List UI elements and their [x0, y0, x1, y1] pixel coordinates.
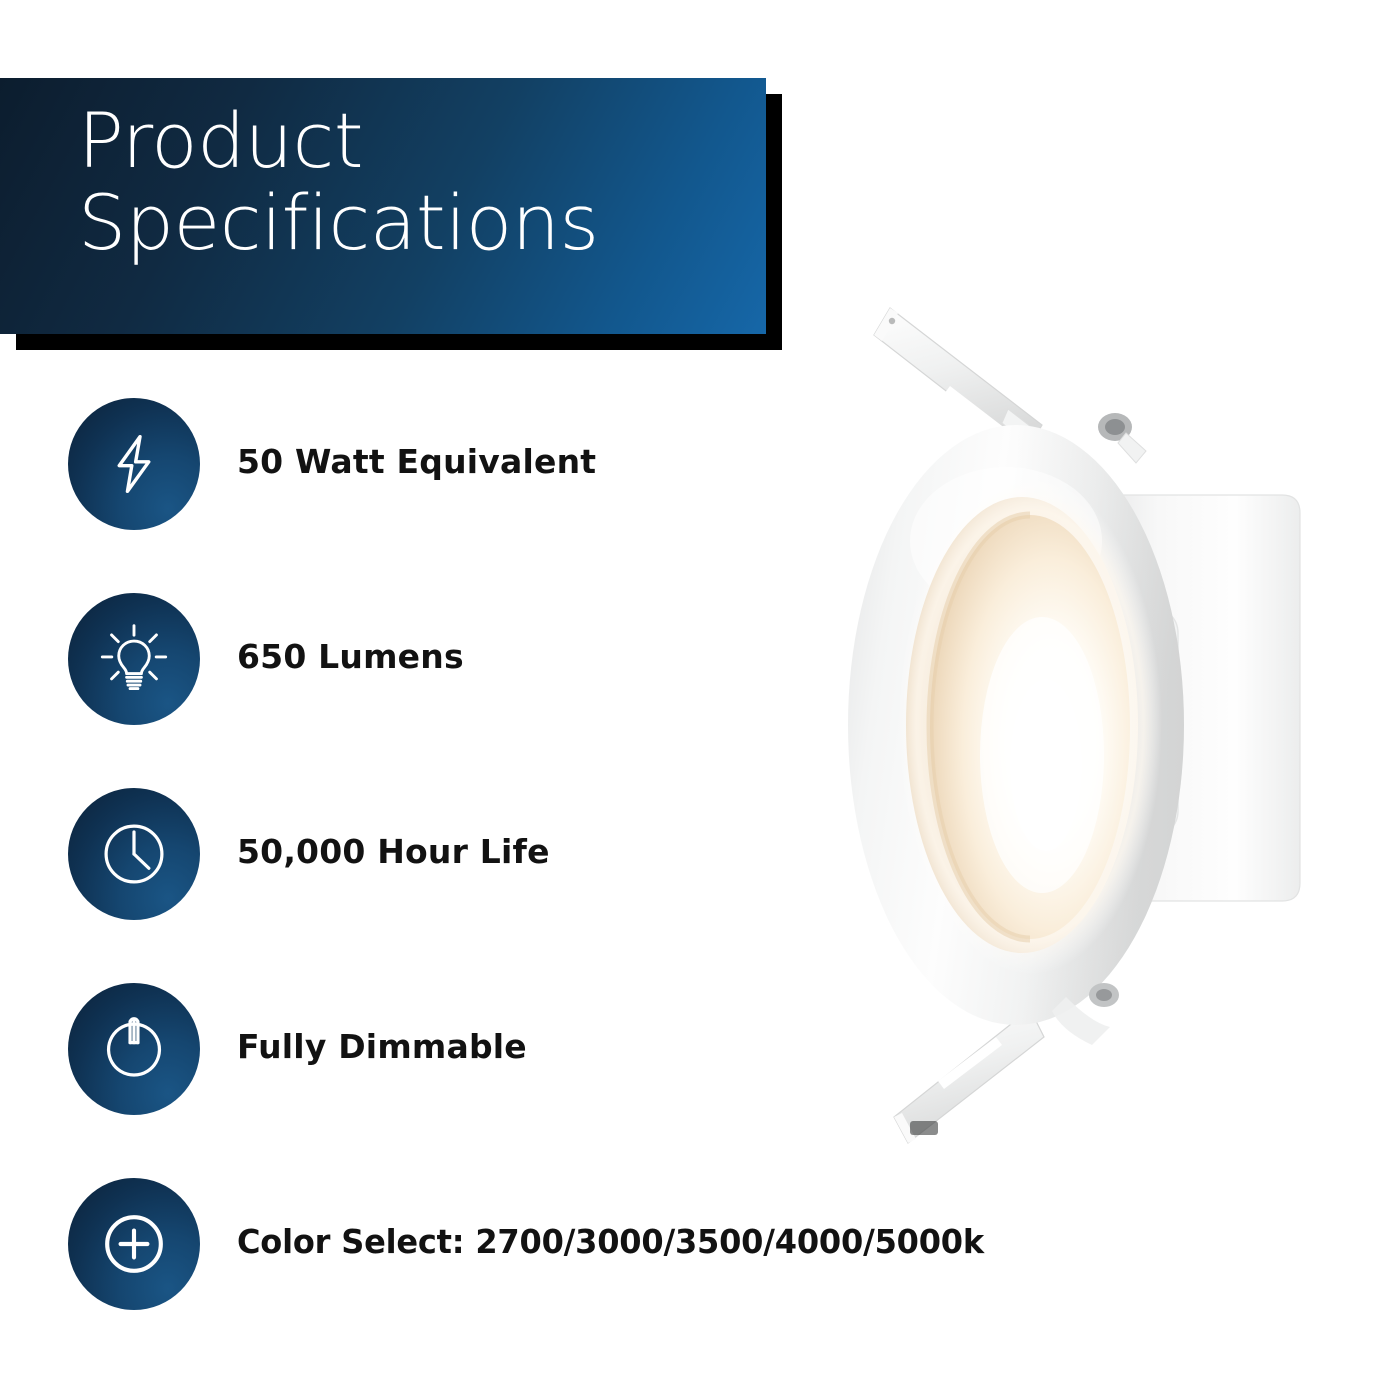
spec-label: Color Select: 2700/3000/3500/4000/5000k: [237, 1222, 984, 1261]
spring-clip-bottom: [894, 1009, 1044, 1143]
spec-icon-circle: [68, 593, 200, 725]
lightning-bolt-icon: [99, 429, 169, 499]
spec-label: 50,000 Hour Life: [237, 832, 550, 871]
spec-label: Fully Dimmable: [237, 1027, 527, 1066]
spec-row: Color Select: 2700/3000/3500/4000/5000k: [0, 1178, 1100, 1373]
page-title: Product Specifications: [78, 100, 738, 264]
spec-icon-circle: [68, 398, 200, 530]
plus-circle-icon: [95, 1205, 173, 1283]
spec-icon-circle: [68, 788, 200, 920]
product-specifications-page: Product Specifications 50 Watt Equivalen…: [0, 0, 1400, 1400]
power-icon: [97, 1012, 171, 1086]
clock-icon: [96, 816, 172, 892]
spec-label: 650 Lumens: [237, 637, 464, 676]
product-image: [830, 255, 1360, 1185]
downlight-trim: [848, 425, 1184, 1025]
light-bulb-icon: [97, 622, 171, 696]
spec-label: 50 Watt Equivalent: [237, 442, 596, 481]
header-banner: Product Specifications: [0, 78, 766, 334]
spec-icon-circle: [68, 1178, 200, 1310]
header-banner-panel: Product Specifications: [0, 78, 766, 334]
spec-icon-circle: [68, 983, 200, 1115]
